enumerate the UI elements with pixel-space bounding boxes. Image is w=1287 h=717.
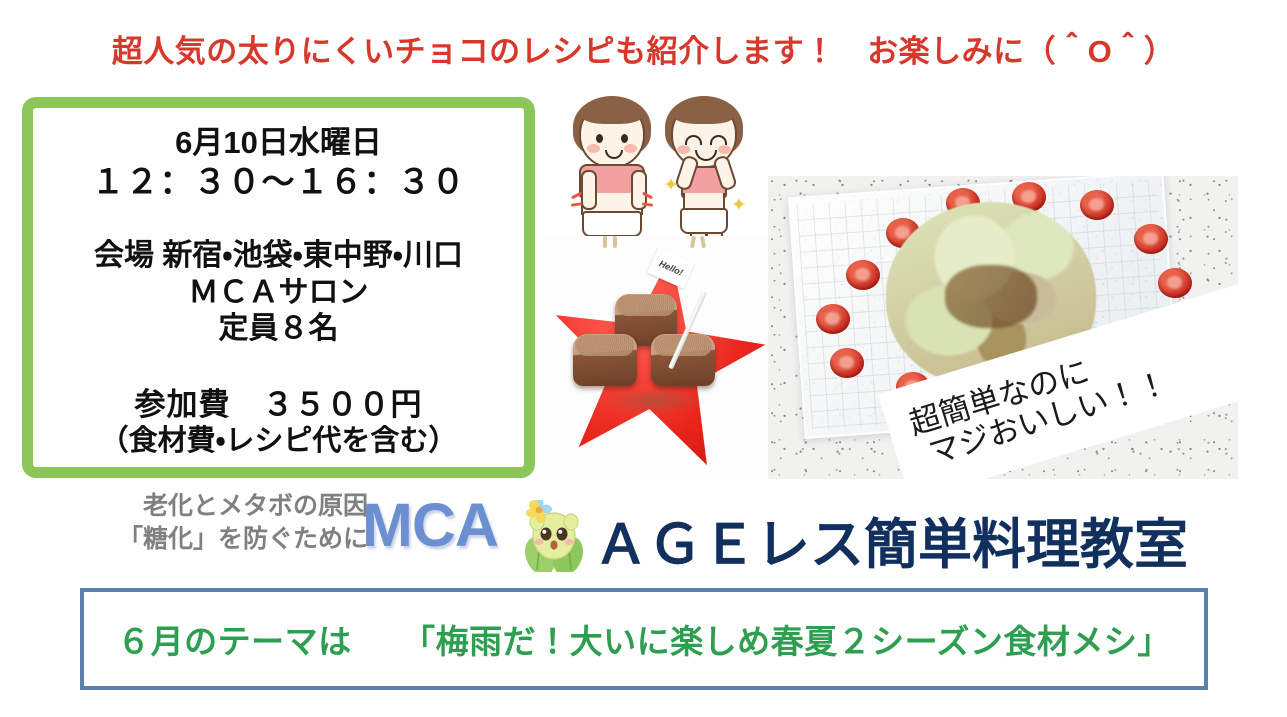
- woman-after: ✦ ✦: [661, 90, 747, 236]
- corn-mascot-icon: [523, 500, 585, 572]
- event-date: 6月10日水曜日: [175, 124, 382, 162]
- event-fee-note: （食材費・レシピ代を含む）: [100, 424, 458, 459]
- salad-photo: 超簡単なのに マジおいしい！！: [768, 176, 1238, 479]
- event-time: １２：３０〜１６：３０: [92, 162, 466, 202]
- sparkle-icon: ✦: [663, 174, 679, 197]
- event-venue: 会場 新宿・池袋・東中野・川口: [94, 238, 463, 275]
- sparkle-icon: ✦: [731, 194, 747, 217]
- flyer-canvas: 超人気の太りにくいチョコのレシピも紹介します！ お楽しみに（＾O＾） 6月10日…: [0, 0, 1287, 717]
- event-fee: 参加費 ３５００円: [135, 386, 423, 424]
- event-info-box: 6月10日水曜日 １２：３０〜１６：３０ 会場 新宿・池袋・東中野・川口 ＭＣＡ…: [22, 97, 535, 478]
- tagline-line-2: 「糖化」を防ぐために: [48, 523, 368, 556]
- flag-pick-label: Hello!: [647, 247, 695, 289]
- event-salon: ＭＣＡサロン: [189, 275, 369, 312]
- chocolate-photo: Hello!: [543, 236, 769, 479]
- brand-tagline: 老化とメタボの原因 「糖化」を防ぐために: [48, 490, 368, 557]
- tagline-line-1: 老化とメタボの原因: [48, 490, 368, 523]
- before-after-women-illustration: ✦ ✦: [543, 88, 769, 236]
- woman-before: [569, 90, 655, 236]
- page-title: ＡＧＥレス簡単料理教室: [594, 500, 1188, 579]
- headline-text: 超人気の太りにくいチョコのレシピも紹介します！ お楽しみに（＾O＾）: [0, 26, 1287, 71]
- mca-logo: MCA: [362, 490, 498, 560]
- monthly-theme-banner: ６月のテーマは 「梅雨だ！大いに楽しめ春夏２シーズン食材メシ」: [80, 588, 1208, 690]
- monthly-theme-text: ６月のテーマは 「梅雨だ！大いに楽しめ春夏２シーズン食材メシ」: [117, 615, 1171, 663]
- chocolate-piece: [573, 334, 637, 386]
- event-capacity: 定員８名: [219, 311, 339, 348]
